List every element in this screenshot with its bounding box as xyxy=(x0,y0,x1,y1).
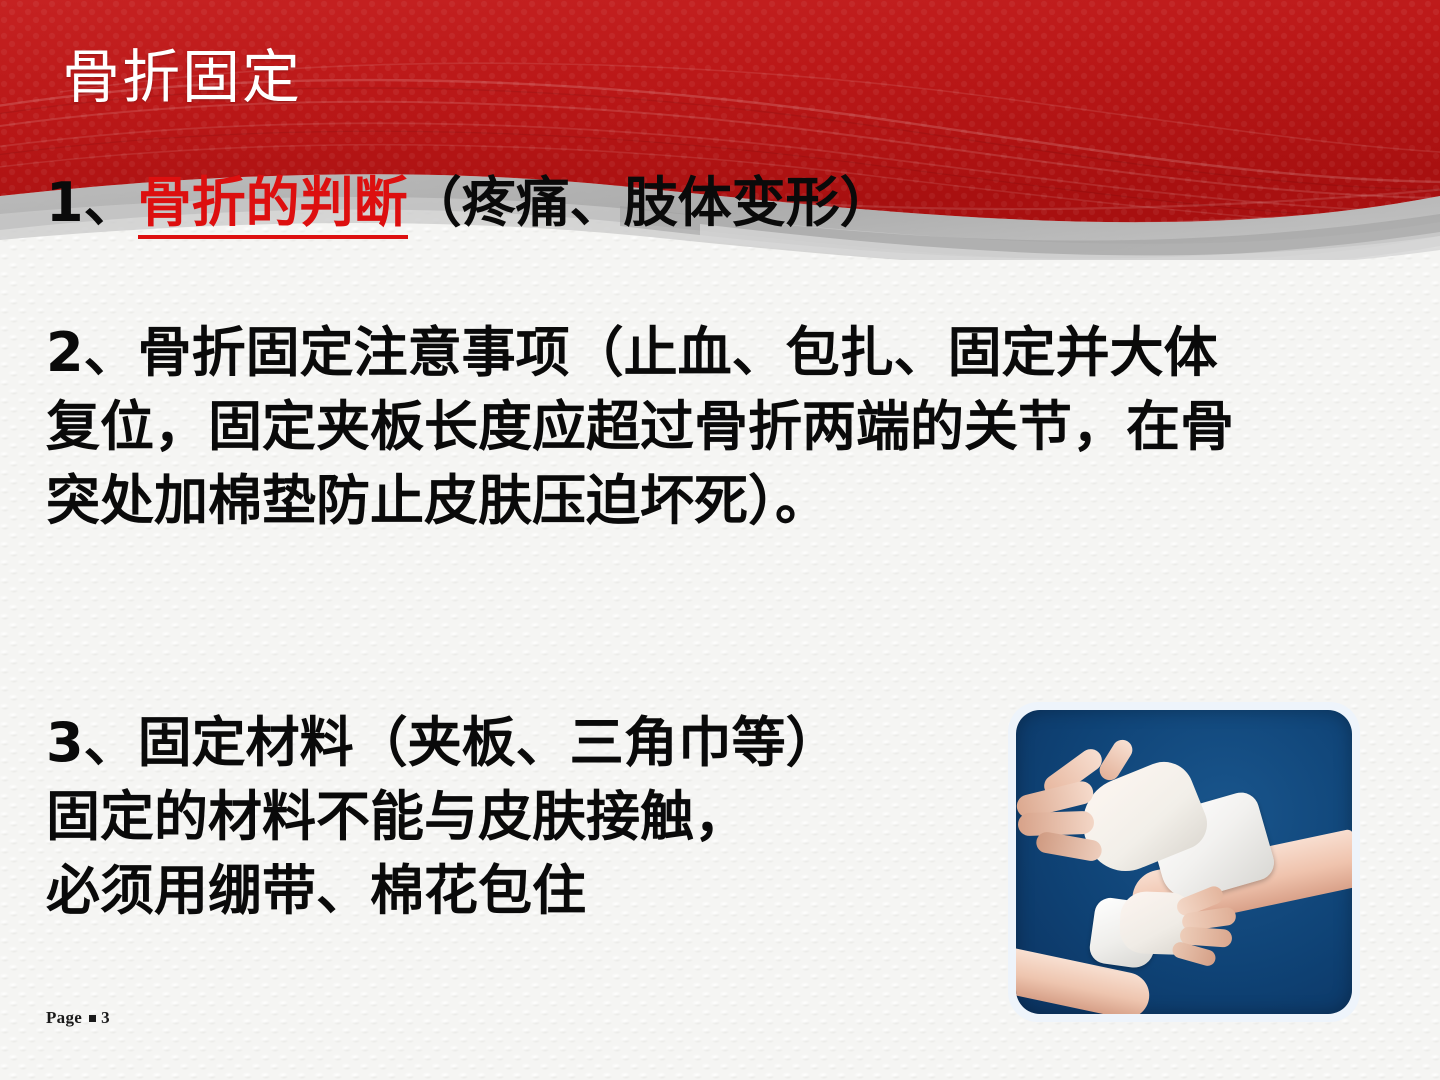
bandaged-hands-photo xyxy=(1008,702,1360,1022)
square-bullet-icon xyxy=(89,1015,96,1022)
bullet-1-highlight: 骨折的判断 xyxy=(138,171,408,239)
photo-inner xyxy=(1016,710,1352,1014)
presentation-slide: 骨折固定 1、骨折的判断（疼痛、肢体变形） 2、骨折固定注意事项（止血、包扎、固… xyxy=(0,0,1440,1080)
slide-body: 1、骨折的判断（疼痛、肢体变形） 2、骨折固定注意事项（止血、包扎、固定并大体复… xyxy=(0,0,1440,1080)
bullet-3-line-1: 3、固定材料（夹板、三角巾等） xyxy=(46,706,1006,780)
bullet-3-line-3: 必须用绷带、棉花包住 xyxy=(46,854,1006,928)
bullet-item-3: 3、固定材料（夹板、三角巾等） 固定的材料不能与皮肤接触， 必须用绷带、棉花包住 xyxy=(46,706,1006,928)
bullet-1-rest: （疼痛、肢体变形） xyxy=(408,171,894,234)
upper-finger-3 xyxy=(1018,811,1095,837)
bullet-1-number: 1、 xyxy=(46,171,138,234)
bullet-item-1: 1、骨折的判断（疼痛、肢体变形） xyxy=(46,166,1406,240)
page-footer: Page 3 xyxy=(46,1008,110,1028)
bullet-3-line-2: 固定的材料不能与皮肤接触， xyxy=(46,780,1006,854)
page-label: Page xyxy=(46,1008,82,1028)
bullet-item-2: 2、骨折固定注意事项（止血、包扎、固定并大体复位，固定夹板长度应超过骨折两端的关… xyxy=(46,316,1256,538)
page-number: 3 xyxy=(101,1008,110,1028)
